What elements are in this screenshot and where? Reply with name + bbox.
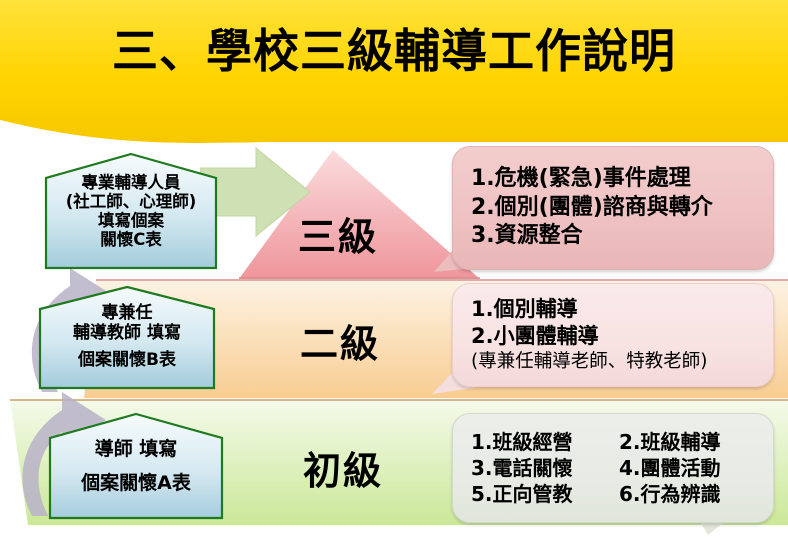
right-box-level3-item-1: 1.危機(緊急)事件處理 <box>471 165 769 194</box>
right-box-level1-row: 5.正向管教 6.行為辨識 <box>471 481 769 507</box>
right-box-level1-item-6: 6.行為辨識 <box>619 481 769 507</box>
right-box-level1-row: 1.班級經營 2.班級輔導 <box>471 429 769 455</box>
right-box-level1-item-2: 2.班級輔導 <box>619 429 769 455</box>
left-box-level1-line-2: 個案關懷A表 <box>48 472 224 494</box>
left-box-level2-text: 專兼任 輔導教師 填寫 個案關懷B表 <box>38 304 216 370</box>
right-box-level1-item-1: 1.班級經營 <box>471 429 619 455</box>
left-box-level2-line-1: 專兼任 <box>38 304 216 324</box>
left-box-level2-line-3: 個案關懷B表 <box>38 351 216 371</box>
left-box-level3-line-4: 關懷C表 <box>44 230 218 249</box>
left-box-level3[interactable]: 專業輔導人員 (社工師、心理師) 填寫個案 關懷C表 <box>44 152 218 270</box>
right-box-level3-item-2: 2.個別(團體)諮商與轉介 <box>471 194 769 223</box>
title-banner: 三、學校三級輔導工作說明 <box>0 0 788 150</box>
right-box-level1-item-4: 4.團體活動 <box>619 455 769 481</box>
right-box-level1-item-5: 5.正向管教 <box>471 481 619 507</box>
right-box-level2-item-2: 2.小團體輔導 <box>471 323 769 350</box>
tier-1-label: 初級 <box>303 440 383 495</box>
left-box-level1-text: 導師 填寫 個案關懷A表 <box>48 438 224 494</box>
tier-2-label: 二級 <box>300 313 380 368</box>
left-box-level3-line-2: (社工師、心理師) <box>44 192 218 211</box>
right-box-level2[interactable]: 1.個別輔導 2.小團體輔導 (專兼任輔導老師、特教老師) <box>452 283 774 387</box>
left-box-level2[interactable]: 專兼任 輔導教師 填寫 個案關懷B表 <box>38 285 216 390</box>
right-box-level1-row: 3.電話關懷 4.團體活動 <box>471 455 769 481</box>
right-box-level1-item-3: 3.電話關懷 <box>471 455 619 481</box>
left-box-level2-line-2: 輔導教師 填寫 <box>38 324 216 344</box>
left-box-level1-line-1: 導師 填寫 <box>48 438 224 460</box>
right-box-level1[interactable]: 1.班級經營 2.班級輔導 3.電話關懷 4.團體活動 5.正向管教 6.行為辨… <box>452 413 774 523</box>
right-box-level3-item-3: 3.資源整合 <box>471 222 769 251</box>
left-box-level3-line-3: 填寫個案 <box>44 211 218 230</box>
page-title: 三、學校三級輔導工作說明 <box>0 26 788 77</box>
arrow-c-to-tier3 <box>200 140 320 260</box>
right-box-level2-item-1: 1.個別輔導 <box>471 296 769 323</box>
right-box-level3[interactable]: 1.危機(緊急)事件處理 2.個別(團體)諮商與轉介 3.資源整合 <box>452 146 774 270</box>
left-box-level3-line-1: 專業輔導人員 <box>44 173 218 192</box>
left-box-level3-text: 專業輔導人員 (社工師、心理師) 填寫個案 關懷C表 <box>44 173 218 250</box>
slide-canvas: 三、學校三級輔導工作說明 <box>0 0 788 540</box>
left-box-level1[interactable]: 導師 填寫 個案關懷A表 <box>48 412 224 520</box>
right-box-level2-note: (專兼任輔導老師、特教老師) <box>471 350 769 374</box>
